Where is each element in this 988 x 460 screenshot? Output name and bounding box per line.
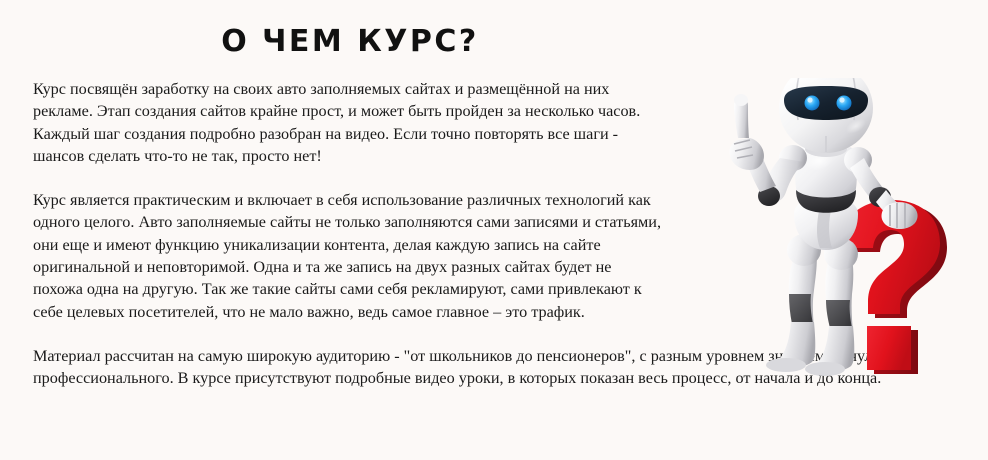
paragraph-1: Курс посвящён заработку на своих авто за… [33,78,663,167]
page-title: О ЧЕМ КУРС? [0,24,700,59]
paragraph-2: Курс является практическим и включает в … [33,189,663,323]
robot-eye-left [805,96,820,111]
robot-head [779,78,873,153]
robot-legs [766,234,858,376]
robot-with-question-mark-illustration [716,78,988,378]
slide-canvas: О ЧЕМ КУРС? Курс посвящён заработку на с… [0,0,988,460]
robot-eye-right [837,96,852,111]
